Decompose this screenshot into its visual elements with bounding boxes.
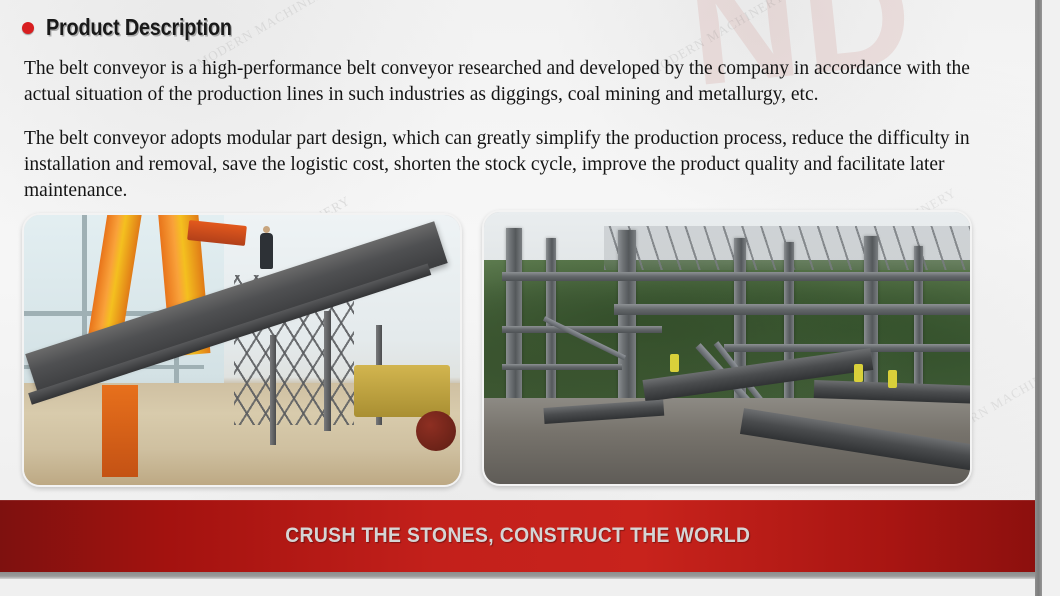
- body-copy: The belt conveyor is a high-performance …: [24, 56, 976, 222]
- page-title: Product Description: [22, 14, 262, 41]
- footer-banner: CRUSH THE STONES, CONSTRUCT THE WORLD: [0, 500, 1036, 572]
- red-dot-icon: [22, 22, 34, 34]
- photo-hiviz-marker: [670, 354, 679, 372]
- page-title-label: Product Description: [46, 14, 232, 41]
- right-edge-rail: [1035, 0, 1042, 596]
- photo-hiviz-marker: [888, 370, 897, 388]
- photo-red-drum: [416, 411, 456, 451]
- footer-bottom-margin: [0, 579, 1036, 596]
- photo-steel-beam: [502, 364, 622, 370]
- photo-steel-beam: [614, 304, 972, 315]
- photo-support-post: [324, 311, 331, 431]
- photo-worker-figure: [260, 233, 273, 269]
- photo-steel-beam: [502, 272, 972, 281]
- footer-slogan: CRUSH THE STONES, CONSTRUCT THE WORLD: [285, 524, 750, 548]
- paragraph-1: The belt conveyor is a high-performance …: [24, 56, 976, 108]
- photo-orange-rig: [102, 385, 138, 477]
- steel-structure-plant-photo: [482, 210, 972, 486]
- photo-yellow-machine: [354, 365, 450, 417]
- right-margin-strip: [1042, 0, 1060, 596]
- photo-steel-beam: [502, 326, 662, 333]
- belt-conveyor-workshop-photo: [22, 213, 462, 487]
- photo-hiviz-marker: [854, 364, 863, 382]
- footer-banner-shadow: [0, 572, 1036, 579]
- slide-canvas: ND MODERN MACHINERY MODERN MACHINERY MOD…: [0, 0, 1060, 596]
- paragraph-2: The belt conveyor adopts modular part de…: [24, 126, 976, 204]
- photo-support-post: [270, 335, 276, 445]
